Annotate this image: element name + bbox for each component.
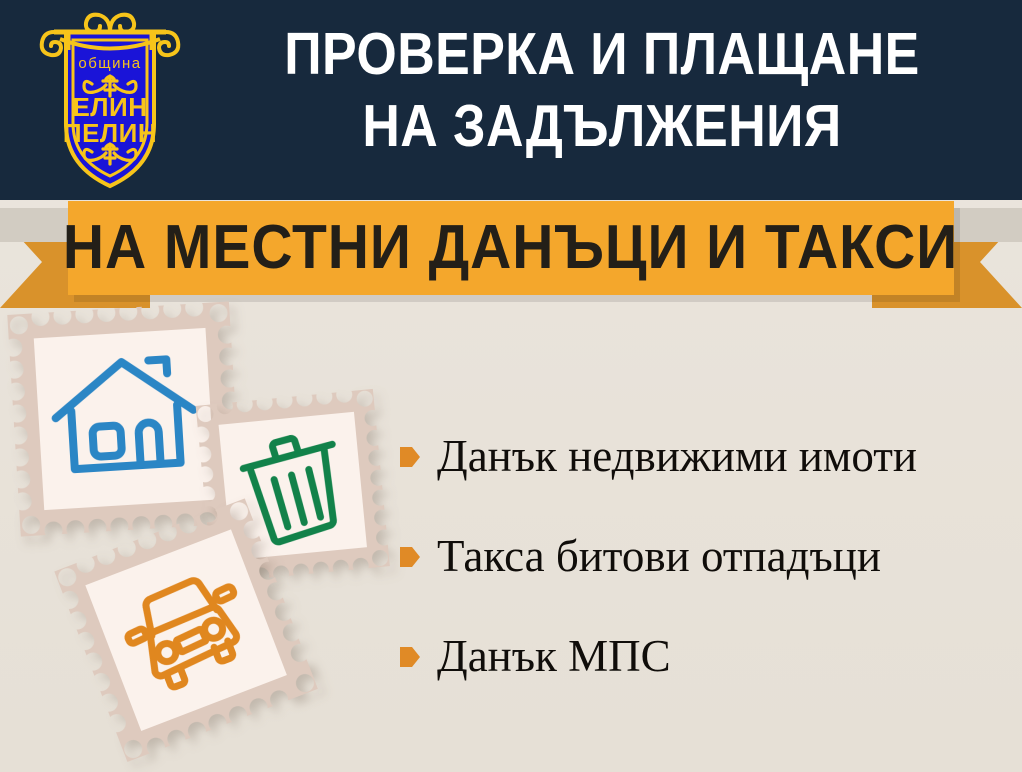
poster-canvas: община ЕЛИН ПЕЛИН ПРОВЕРКА И ПЛАЩАНЕ НА … [0, 0, 1022, 772]
header-banner: община ЕЛИН ПЕЛИН ПРОВЕРКА И ПЛАЩАНЕ НА … [0, 0, 1022, 200]
page-title-line-2: НА ЗАДЪЛЖЕНИЯ [241, 90, 963, 162]
arrow-bullet-icon [400, 446, 420, 468]
list-item[interactable]: Данък недвижими имоти [400, 432, 1012, 480]
tax-type-list: Данък недвижими имоти Такса битови отпад… [400, 432, 1012, 680]
ribbon-subtitle-text: НА МЕСТНИ ДАНЪЦИ И ТАКСИ [63, 217, 958, 279]
list-item-label: Данък недвижими имоти [437, 432, 917, 480]
subtitle-ribbon: НА МЕСТНИ ДАНЪЦИ И ТАКСИ [0, 198, 1022, 308]
municipality-crest-logo: община ЕЛИН ПЕЛИН [36, 6, 184, 196]
stamp-collage [0, 300, 420, 772]
page-title: ПРОВЕРКА И ПЛАЩАНЕ НА ЗАДЪЛЖЕНИЯ [241, 18, 963, 162]
list-item-label: Данък МПС [437, 632, 671, 680]
crest-name-line2: ПЕЛИН [63, 118, 157, 148]
ribbon-band: НА МЕСТНИ ДАНЪЦИ И ТАКСИ [68, 201, 954, 295]
list-item[interactable]: Такса битови отпадъци [400, 532, 1012, 580]
list-item-label: Такса битови отпадъци [437, 532, 881, 580]
crest-municipality-word: община [78, 55, 141, 72]
arrow-bullet-icon [400, 646, 420, 668]
page-title-line-1: ПРОВЕРКА И ПЛАЩАНЕ [241, 18, 963, 90]
arrow-bullet-icon [400, 546, 420, 568]
list-item[interactable]: Данък МПС [400, 632, 1012, 680]
